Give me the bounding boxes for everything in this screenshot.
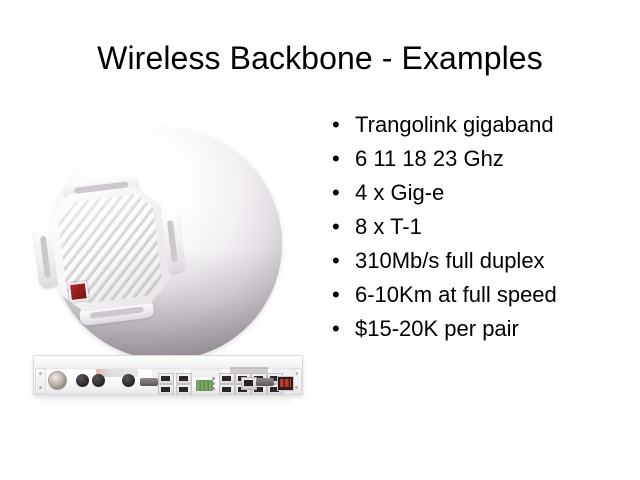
list-item: • 6 11 18 23 Ghz xyxy=(330,142,630,176)
rack-screw-hole xyxy=(39,372,42,375)
list-item: • 8 x T-1 xyxy=(330,210,630,244)
rack-ear-left xyxy=(35,368,46,394)
ethernet-port-pair xyxy=(176,373,191,393)
bullet-marker-icon: • xyxy=(332,108,340,142)
bullet-marker-icon: • xyxy=(332,244,340,278)
list-item-label: 6 11 18 23 Ghz xyxy=(355,146,504,171)
status-led-icon xyxy=(212,387,215,390)
ethernet-port-column xyxy=(219,373,234,394)
serial-port xyxy=(256,378,274,386)
ethernet-port-pair xyxy=(158,373,173,393)
list-item: • Trangolink gigaband xyxy=(330,108,630,142)
status-led-icon xyxy=(212,382,215,385)
list-item-label: Trangolink gigaband xyxy=(355,112,554,137)
bullet-marker-icon: • xyxy=(332,312,340,346)
list-item-label: 310Mb/s full duplex xyxy=(355,248,545,273)
list-item-label: 6-10Km at full speed xyxy=(355,282,557,307)
radio-transceiver-unit xyxy=(41,179,180,321)
ethernet-port xyxy=(219,373,235,384)
list-item-label: $15-20K per pair xyxy=(355,316,519,341)
front-panel-knob xyxy=(92,374,105,387)
rack-screw-hole xyxy=(295,386,298,389)
chassis-reflection xyxy=(41,394,293,412)
led-display xyxy=(277,376,294,391)
page-title: Wireless Backbone - Examples xyxy=(0,38,640,78)
list-item: • 310Mb/s full duplex xyxy=(330,244,630,278)
list-item-label: 4 x Gig-e xyxy=(355,180,444,205)
list-item: • 6-10Km at full speed xyxy=(330,278,630,312)
list-item: • $15-20K per pair xyxy=(330,312,630,346)
list-item: • 4 x Gig-e xyxy=(330,176,630,210)
bracket-slot xyxy=(167,220,178,262)
list-item-label: 8 x T-1 xyxy=(355,214,422,239)
sfp-port xyxy=(241,377,257,390)
serial-port xyxy=(140,378,158,386)
ethernet-port xyxy=(158,373,174,384)
bullet-list: • Trangolink gigaband • 6 11 18 23 Ghz •… xyxy=(330,108,630,346)
front-panel-knob xyxy=(76,374,89,387)
status-led-group xyxy=(212,377,216,389)
front-panel-knob xyxy=(122,374,135,387)
bullet-marker-icon: • xyxy=(332,210,340,244)
vent-slot xyxy=(190,369,222,377)
product-photo xyxy=(14,100,324,410)
slide-canvas: Wireless Backbone - Examples xyxy=(0,0,640,480)
rack-screw-hole xyxy=(39,386,42,389)
status-led-icon xyxy=(212,377,215,380)
rack-mount-chassis xyxy=(33,355,301,395)
ethernet-port xyxy=(176,373,192,384)
coax-connector xyxy=(48,371,67,390)
bullet-marker-icon: • xyxy=(332,142,340,176)
chassis-body xyxy=(33,355,303,395)
bullet-marker-icon: • xyxy=(332,176,340,210)
status-led-icon xyxy=(68,281,89,302)
terminal-block xyxy=(196,380,213,391)
bracket-slot xyxy=(40,236,51,278)
bullet-marker-icon: • xyxy=(332,278,340,312)
